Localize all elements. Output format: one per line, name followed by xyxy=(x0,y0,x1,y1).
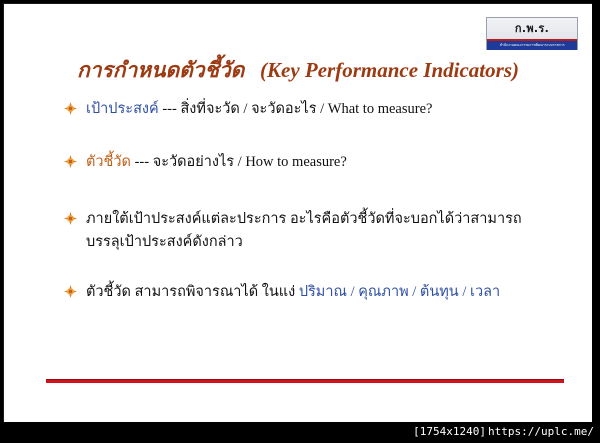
bullet-2-lead: ตัวชี้วัด xyxy=(86,154,131,170)
bullet-text-1: เป้าประสงค์ --- สิ่งที่จะวัด / จะวัดอะไร… xyxy=(86,101,432,117)
image-viewer-canvas: ก.พ.ร. สำนักงานคณะกรรมการพัฒนาระบบราชการ… xyxy=(0,0,600,443)
slide-title-thai: การกำหนดตัวชี้วัด xyxy=(77,58,244,82)
source-url-label: https://uplc.me/ xyxy=(488,425,594,438)
image-dimensions-label: [1754x1240] xyxy=(413,425,486,438)
bullet-item-3: ภายใต้เป้าประสงค์แต่ละประการ อะไรคือตัวช… xyxy=(64,208,568,255)
bullet-text-4: ตัวชี้วัด สามารถพิจารณาได้ ในแง่ ปริมาณ … xyxy=(86,284,500,300)
bullet-1-rest: --- สิ่งที่จะวัด / จะวัดอะไร / What to m… xyxy=(159,101,433,117)
compass-bullet-icon xyxy=(64,155,77,168)
slide-title: การกำหนดตัวชี้วัด (Key Performance Indic… xyxy=(4,54,592,87)
bullet-4-emphasis: ปริมาณ / คุณภาพ / ต้นทุน / เวลา xyxy=(299,284,500,300)
bullet-text-3: ภายใต้เป้าประสงค์แต่ละประการ อะไรคือตัวช… xyxy=(86,211,522,250)
bullet-3-line-2: บรรลุเป้าประสงค์ดังกล่าว xyxy=(86,234,243,250)
bullet-1-lead: เป้าประสงค์ xyxy=(86,101,159,117)
compass-bullet-icon xyxy=(64,102,77,115)
red-divider-line xyxy=(46,379,564,383)
agency-logo-bar: สำนักงานคณะกรรมการพัฒนาระบบราชการ xyxy=(487,41,577,50)
spacer-1 xyxy=(64,121,568,151)
bullet-2-rest: --- จะวัดอย่างไร / How to measure? xyxy=(131,154,347,170)
slide-body: เป้าประสงค์ --- สิ่งที่จะวัด / จะวัดอะไร… xyxy=(64,98,568,304)
agency-logo: ก.พ.ร. สำนักงานคณะกรรมการพัฒนาระบบราชการ xyxy=(486,17,578,50)
spacer-3 xyxy=(64,255,568,281)
bullet-4-lead: ตัวชี้วัด สามารถพิจารณาได้ ในแง่ xyxy=(86,284,299,300)
agency-acronym: ก.พ.ร. xyxy=(515,23,549,34)
bullet-3-line-1: ภายใต้เป้าประสงค์แต่ละประการ อะไรคือตัวช… xyxy=(86,211,522,227)
bullet-item-1: เป้าประสงค์ --- สิ่งที่จะวัด / จะวัดอะไร… xyxy=(64,98,568,121)
slide-title-english: (Key Performance Indicators) xyxy=(260,58,519,82)
compass-bullet-icon xyxy=(64,285,77,298)
agency-logo-top: ก.พ.ร. xyxy=(487,18,577,39)
compass-bullet-icon xyxy=(64,212,77,225)
bullet-item-2: ตัวชี้วัด --- จะวัดอย่างไร / How to meas… xyxy=(64,151,568,174)
slide-page: ก.พ.ร. สำนักงานคณะกรรมการพัฒนาระบบราชการ… xyxy=(3,3,592,422)
agency-subtitle: สำนักงานคณะกรรมการพัฒนาระบบราชการ xyxy=(500,44,565,48)
bullet-item-4: ตัวชี้วัด สามารถพิจารณาได้ ในแง่ ปริมาณ … xyxy=(64,281,568,304)
bullet-text-2: ตัวชี้วัด --- จะวัดอย่างไร / How to meas… xyxy=(86,154,347,170)
spacer-2 xyxy=(64,175,568,208)
footer-watermark: [1754x1240]https://uplc.me/ xyxy=(0,425,594,438)
